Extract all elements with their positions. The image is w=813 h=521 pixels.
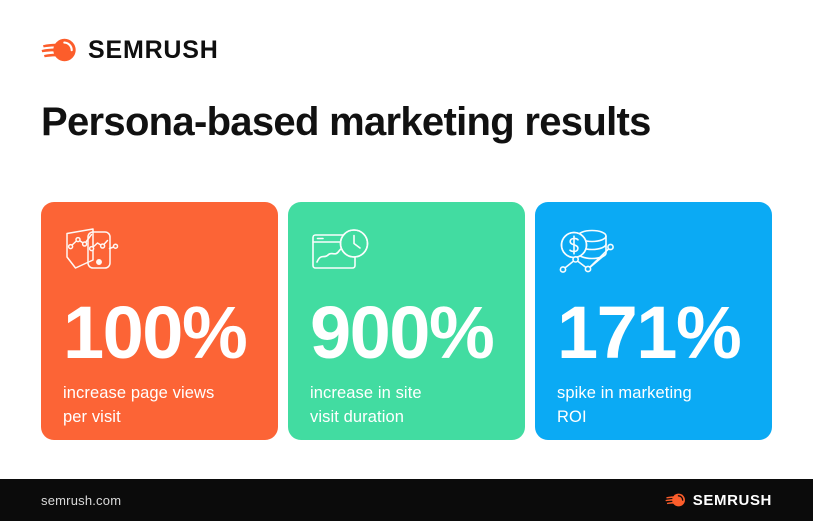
- stat-figure: 171%: [557, 298, 750, 368]
- semrush-comet-icon: [41, 36, 79, 64]
- page-title: Persona-based marketing results: [41, 99, 651, 145]
- map-chart-cards-icon: [63, 226, 256, 286]
- stat-caption: increase page views per visit: [63, 382, 256, 429]
- footer-brand-logo: SEMRUSH: [665, 492, 772, 508]
- stat-card-visit-duration: 900% increase in site visit duration: [288, 202, 525, 440]
- header-brand-logo: SEMRUSH: [41, 36, 219, 64]
- footer-bar: semrush.com SEMRUSH: [0, 479, 813, 521]
- footer-website-url[interactable]: semrush.com: [41, 493, 121, 508]
- dollar-database-network-icon: [557, 226, 750, 286]
- stat-figure: 100%: [63, 298, 256, 368]
- stat-card-marketing-roi: 171% spike in marketing ROI: [535, 202, 772, 440]
- stat-figure: 900%: [310, 298, 503, 368]
- stats-card-row: 100% increase page views per visit: [41, 202, 772, 440]
- footer-brand-wordmark: SEMRUSH: [693, 493, 772, 508]
- stat-caption: increase in site visit duration: [310, 382, 503, 429]
- infographic-page: SEMRUSH Persona-based marketing results: [0, 0, 813, 521]
- stat-card-page-views: 100% increase page views per visit: [41, 202, 278, 440]
- semrush-comet-icon: [665, 492, 687, 508]
- browser-chart-clock-icon: [310, 226, 503, 286]
- header-brand-wordmark: SEMRUSH: [88, 38, 219, 63]
- stat-caption: spike in marketing ROI: [557, 382, 750, 429]
